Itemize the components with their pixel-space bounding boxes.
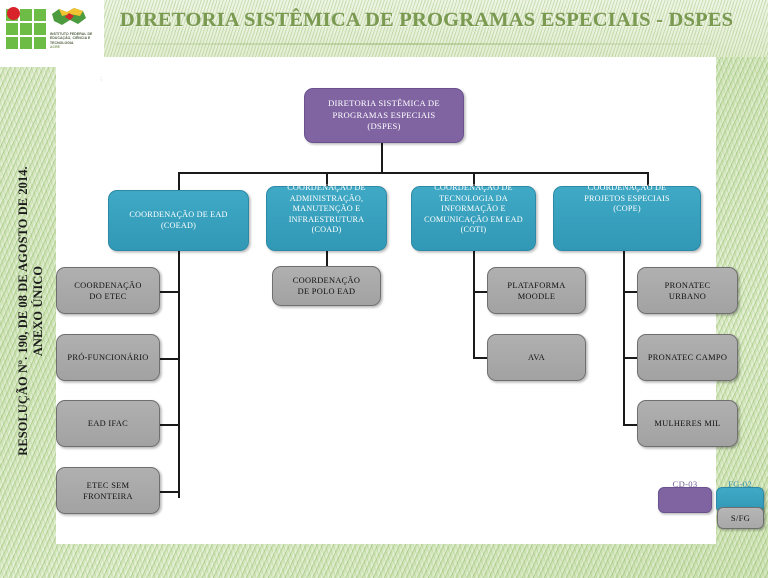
connector-coti-spine (473, 250, 475, 358)
legend-sfg: S/FG (717, 507, 764, 529)
node-coord-etec[interactable]: COORDENAÇÃODO ETEC (56, 267, 160, 314)
node-coead-label: COORDENAÇÃO DE EAD(COEAD) (109, 210, 248, 231)
node-pronatec-campo[interactable]: PRONATEC CAMPO (637, 334, 738, 381)
node-coad-label: COORDENAÇÃO DEADMINISTRAÇÃO,MANUTENÇÃO E… (267, 183, 386, 236)
node-coti[interactable]: COORDENAÇÃO DETECNOLOGIA DAINFORMAÇÃO EC… (411, 186, 536, 251)
resolution-side-label: RESOLUÇÃO Nº. 190, DE 08 DE AGOSTO DE 20… (16, 146, 46, 476)
connector-coti-stub-1 (473, 291, 487, 293)
node-ead-ifac[interactable]: EAD IFAC (56, 400, 160, 447)
node-pronatec-urbano-label: PRONATECURBANO (638, 280, 737, 302)
node-mulheres-mil-label: MULHERES MIL (638, 418, 737, 429)
node-plataforma-moodle[interactable]: PLATAFORMAMOODLE (487, 267, 586, 314)
header-divider (116, 43, 712, 45)
connector-coead-stub-3 (160, 424, 179, 426)
connector-coead-spine (178, 250, 180, 498)
node-coead[interactable]: COORDENAÇÃO DE EAD(COEAD) (108, 190, 249, 251)
legend-sfg-label: S/FG (731, 513, 750, 523)
node-pronatec-campo-label: PRONATEC CAMPO (638, 352, 737, 363)
node-coad[interactable]: COORDENAÇÃO DEADMINISTRAÇÃO,MANUTENÇÃO E… (266, 186, 387, 251)
connector-cope-spine (623, 250, 625, 425)
node-cope-label: COORDENAÇÃO DEPROJETOS ESPECIAIS(COPE) (554, 183, 700, 215)
annex-line: ANEXO ÚNICO (31, 146, 46, 476)
page-title: DIRETORIA SISTÊMICA DE PROGRAMAS ESPECIA… (120, 9, 720, 32)
node-coti-label: COORDENAÇÃO DETECNOLOGIA DAINFORMAÇÃO EC… (412, 183, 535, 236)
connector-cope-stub-1 (623, 291, 637, 293)
node-dspes[interactable]: DIRETORIA SISTÊMICA DEPROGRAMAS ESPECIAI… (304, 88, 464, 143)
if-squares-logo-icon (6, 7, 52, 55)
connector-coead-stub-4 (160, 491, 179, 493)
logo-plate: INSTITUTO FEDERAL DE EDUCAÇÃO, CIÊNCIA E… (0, 0, 104, 67)
connector-coead-stub-2 (160, 358, 179, 360)
resolution-line: RESOLUÇÃO Nº. 190, DE 08 DE AGOSTO DE 20… (16, 166, 30, 455)
connector-cope-stub-2 (623, 357, 637, 359)
connector-coti-stub-2 (473, 357, 487, 359)
logo-line-2: EDUCAÇÃO, CIÊNCIA E TECNOLOGIA (50, 36, 102, 45)
node-etec-sem-fronteira[interactable]: ETEC SEMFRONTEIRA (56, 467, 160, 514)
connector-coad-child (326, 250, 328, 266)
node-ead-ifac-label: EAD IFAC (57, 418, 159, 429)
legend-cd-03-label: CD-03 (673, 479, 698, 489)
organizational-chart-page: ⁏ INSTITUTO FEDERAL DE EDUCAÇÃO, CIÊNCIA… (0, 0, 768, 578)
connector-level2-bus (178, 172, 648, 174)
node-ava[interactable]: AVA (487, 334, 586, 381)
node-ava-label: AVA (488, 352, 585, 363)
logo-line-3: ACRE (50, 45, 102, 49)
connector-cope-stub-3 (623, 424, 637, 426)
node-coord-etec-label: COORDENAÇÃODO ETEC (57, 280, 159, 302)
logo-red-dot-icon (7, 7, 20, 20)
node-pro-funcionario-label: PRÓ-FUNCIONÁRIO (57, 352, 159, 363)
node-coord-polo-ead-label: COORDENAÇÃODE POLO EAD (273, 275, 380, 297)
connector-coead-stub-1 (160, 291, 179, 293)
institution-logo: INSTITUTO FEDERAL DE EDUCAÇÃO, CIÊNCIA E… (6, 3, 102, 61)
legend-cd-03: CD-03 (658, 487, 712, 513)
node-plataforma-moodle-label: PLATAFORMAMOODLE (488, 280, 585, 302)
connector-root-down (381, 142, 383, 173)
logo-institution-text: INSTITUTO FEDERAL DE EDUCAÇÃO, CIÊNCIA E… (50, 32, 102, 50)
node-mulheres-mil[interactable]: MULHERES MIL (637, 400, 738, 447)
node-pro-funcionario[interactable]: PRÓ-FUNCIONÁRIO (56, 334, 160, 381)
scan-artifact: ⁏ (100, 75, 102, 82)
node-cope[interactable]: COORDENAÇÃO DEPROJETOS ESPECIAIS(COPE) (553, 186, 701, 251)
node-pronatec-urbano[interactable]: PRONATECURBANO (637, 267, 738, 314)
node-coord-polo-ead[interactable]: COORDENAÇÃODE POLO EAD (272, 266, 381, 306)
legend-fg-02-label: FG-02 (728, 479, 752, 489)
node-etec-sem-fronteira-label: ETEC SEMFRONTEIRA (57, 480, 159, 502)
node-dspes-label: DIRETORIA SISTÊMICA DEPROGRAMAS ESPECIAI… (305, 98, 463, 132)
acre-state-map-icon (50, 5, 88, 31)
